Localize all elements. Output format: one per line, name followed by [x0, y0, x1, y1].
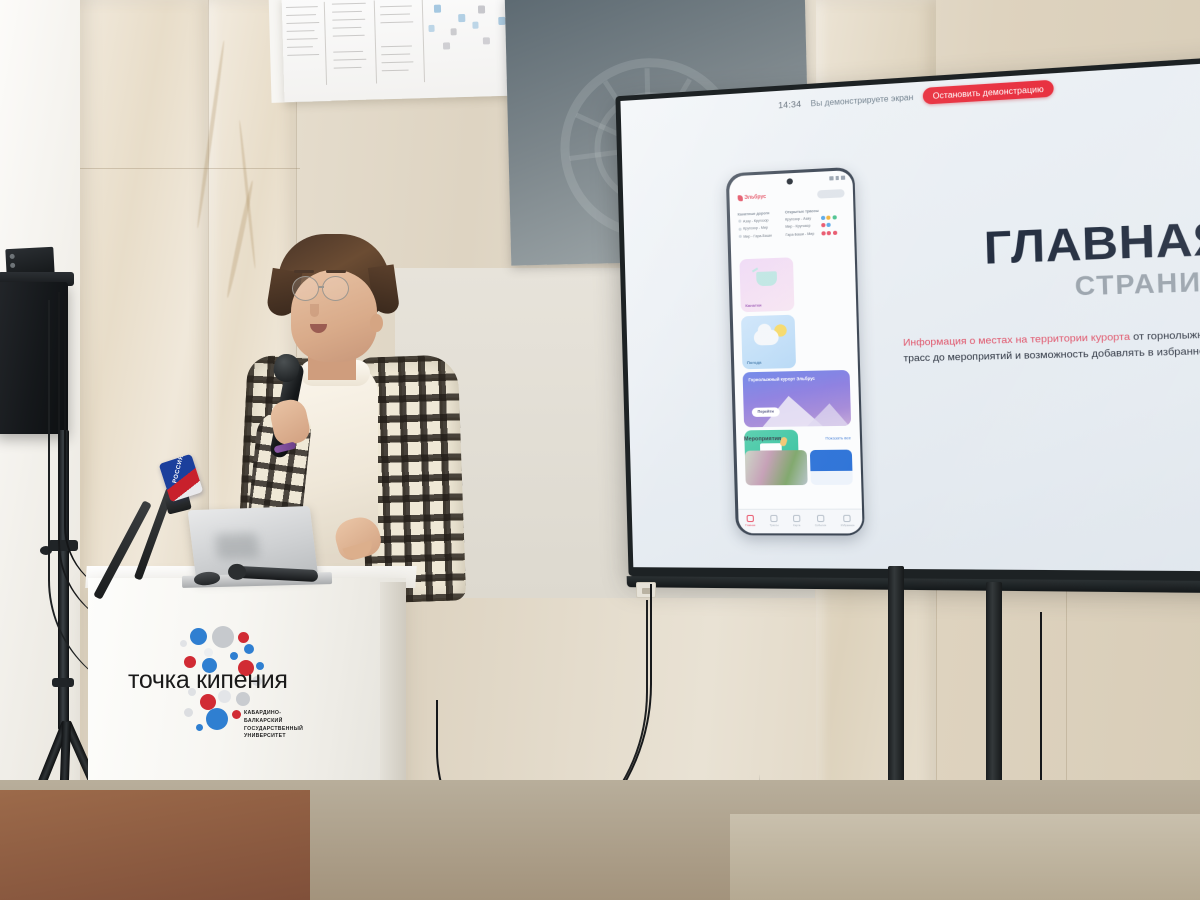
slide-content: Эльбрус Канатные дороги Открытые трассы [620, 62, 1200, 572]
column-header-lifts: Канатные дороги [738, 210, 785, 216]
table-row[interactable]: Мир - Гара-Баши Гара-Баши - Мир [738, 230, 845, 239]
home-icon [746, 515, 753, 522]
resort-banner[interactable]: Горнолыжный курорт Эльбрус Перейти [742, 369, 851, 426]
slide-title-main: ГЛАВНАЯ [893, 217, 1200, 273]
weather-tile[interactable]: Погода [740, 314, 795, 369]
lift-name: Азау - Кругозор [743, 218, 769, 223]
status-badges [821, 223, 831, 228]
mountain-icon [737, 195, 742, 201]
ear [370, 314, 383, 332]
nav-events[interactable]: События [815, 515, 827, 527]
trail-icon [770, 515, 777, 522]
lift-icon [738, 227, 741, 230]
presentation-photo-scene: 14:34 Вы демонстрируете экран Остановить… [0, 0, 1200, 900]
nav-label: События [815, 524, 826, 527]
wood-floor-section [0, 790, 310, 900]
calendar-icon [817, 515, 825, 522]
logo-dot [230, 652, 238, 660]
eyeglasses-bridge [318, 286, 324, 288]
phone-status-icons [829, 175, 844, 180]
eyebrow-right [326, 270, 346, 273]
logo-dot [244, 644, 254, 654]
cable-car-icon [756, 271, 777, 286]
eyeglasses-lens-left [292, 276, 319, 301]
nose [310, 304, 319, 317]
trail-name: Мир - Кругозор [785, 223, 821, 229]
app-logo: Эльбрус [737, 194, 766, 202]
logo-dot [232, 710, 241, 719]
nav-label: Карта [793, 524, 800, 527]
subtitle-line: ГОСУДАРСТВЕННЫЙ [244, 726, 324, 734]
app-header: Эльбрус [729, 184, 853, 207]
app-brand-label: Эльбрус [744, 194, 766, 201]
stone-floor-section [730, 814, 1200, 900]
tripod-knob [52, 678, 74, 687]
event-card[interactable] [744, 450, 807, 485]
status-badges [821, 230, 837, 235]
nav-favorites[interactable]: Избранное [840, 515, 854, 527]
slide-title-sub: СТРАНИЦА [895, 269, 1200, 305]
venue-logo: точка кипения КАБАРДИНО- БАЛКАРСКИЙ ГОСУ… [122, 626, 322, 736]
banner-cta-button[interactable]: Перейти [751, 407, 780, 417]
search-input[interactable] [817, 189, 845, 199]
show-all-link[interactable]: Показать все [825, 435, 851, 440]
logo-dot [190, 628, 207, 645]
slide-body-text: Информация о местах на территории курорт… [903, 327, 1200, 367]
lift-name: Мир - Гара-Баши [743, 233, 772, 238]
tv-screen[interactable]: 14:34 Вы демонстрируете экран Остановить… [620, 62, 1200, 572]
logo-dot [184, 708, 193, 717]
lift-icon [738, 235, 741, 238]
cloud-icon [753, 329, 778, 345]
eyebrow-left [294, 270, 314, 273]
map-icon [793, 515, 800, 522]
mic-flag-label: РОССИЯ [172, 455, 185, 484]
nav-label: Главная [745, 524, 755, 527]
slide-body-lead: Информация о местах на территории курорт… [903, 331, 1130, 349]
bottom-navigation: Главная Трассы Карта События Избранное [738, 508, 862, 533]
nav-home[interactable]: Главная [745, 515, 755, 527]
lift-icon [738, 220, 741, 223]
lifts-trails-table: Канатные дороги Открытые трассы Азау - К… [738, 207, 846, 242]
venue-logo-subtitle: КАБАРДИНО- БАЛКАРСКИЙ ГОСУДАРСТВЕННЫЙ УН… [244, 710, 324, 741]
logo-dot [212, 626, 234, 648]
logo-dot [204, 648, 213, 657]
phone-camera-icon [787, 178, 793, 184]
events-heading: Мероприятия [744, 435, 781, 442]
nav-label: Избранное [841, 524, 855, 527]
nav-trails[interactable]: Трассы [769, 515, 778, 527]
trail-name: Кругозор - Азау [785, 215, 821, 221]
phone-mockup: Эльбрус Канатные дороги Открытые трассы [726, 167, 865, 536]
tile-label: Канатки [745, 302, 761, 308]
logo-dot [206, 708, 228, 730]
trail-name: Гара-Баши - Мир [785, 231, 821, 237]
nav-map[interactable]: Карта [793, 515, 801, 527]
tile-label: Погода [747, 359, 762, 364]
column-header-trails: Открытые трассы [785, 208, 819, 214]
heart-icon [844, 515, 852, 522]
presentation-tv[interactable]: 14:34 Вы демонстрируете экран Остановить… [615, 56, 1200, 581]
nav-label: Трассы [770, 524, 779, 527]
lift-tile[interactable]: Канатки [739, 257, 794, 312]
logo-dot [180, 640, 187, 647]
lift-name: Кругозор - Мир [743, 226, 768, 231]
banner-title: Горнолыжный курорт Эльбрус [748, 375, 815, 382]
slide-title: ГЛАВНАЯ СТРАНИЦА [893, 217, 1200, 306]
subtitle-line: УНИВЕРСИТЕТ [244, 733, 324, 741]
logo-dot [196, 724, 203, 731]
table-row[interactable]: Кругозор - Мир Мир - Кругозор [738, 222, 845, 231]
wall-seam [60, 168, 300, 169]
mountain-illustration [806, 403, 849, 426]
logo-dot [238, 632, 249, 643]
status-badges [820, 215, 836, 220]
eyeglasses-lens-right [322, 276, 349, 301]
events-carousel[interactable] [744, 449, 852, 485]
subtitle-line: БАЛКАРСКИЙ [244, 718, 324, 726]
subtitle-line: КАБАРДИНО- [244, 710, 324, 718]
events-section-header: Мероприятия Показать все [744, 435, 851, 442]
event-card[interactable] [809, 449, 852, 484]
phone-screen[interactable]: Эльбрус Канатные дороги Открытые трассы [728, 170, 862, 533]
tv-bezel: 14:34 Вы демонстрируете экран Остановить… [615, 56, 1200, 581]
venue-logo-title: точка кипения [128, 666, 323, 695]
